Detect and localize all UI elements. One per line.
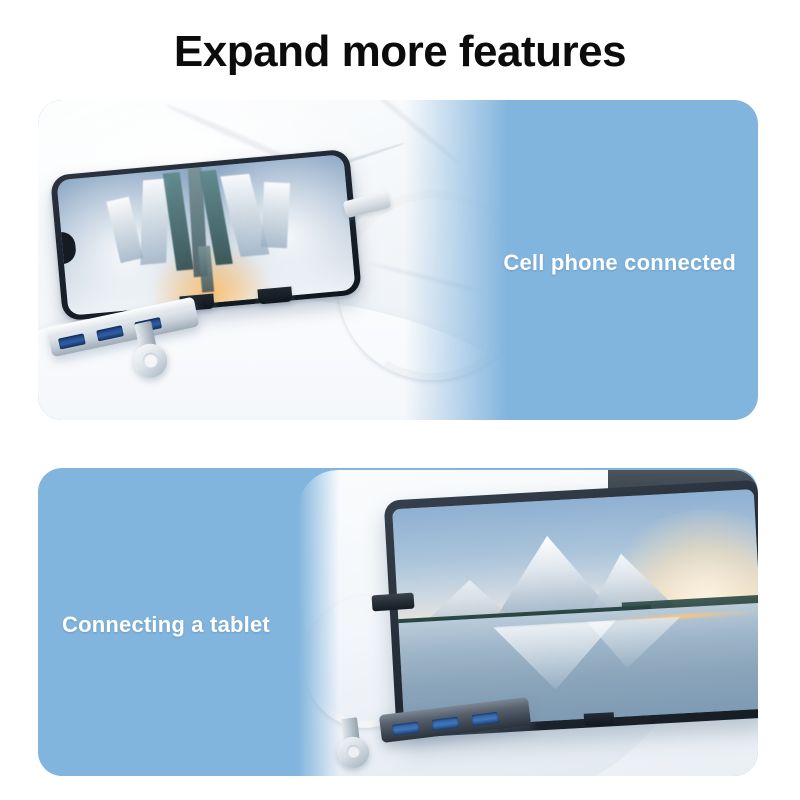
feature-panel-cell-phone: Cell phone connected [38, 100, 758, 420]
product-photo-tablet [298, 470, 758, 776]
feature-panel-tablet: Connecting a tablet [38, 468, 758, 776]
smartphone-screen [56, 154, 355, 316]
tablet-stand-foot [584, 712, 615, 727]
smartphone-wallpaper [56, 154, 355, 316]
product-photo-cell-phone [38, 100, 508, 420]
tablet-screen [392, 489, 758, 729]
phone-stand-foot [257, 287, 292, 305]
tablet-device [384, 480, 758, 739]
page-title: Expand more features [0, 26, 800, 78]
flash-drive-icon [333, 716, 371, 770]
usb-c-plug-icon [371, 593, 414, 612]
panel-label-tablet: Connecting a tablet [62, 612, 270, 638]
flash-drive-head [335, 735, 371, 770]
flash-drive-head [130, 341, 170, 381]
panel-label-cell-phone: Cell phone connected [503, 250, 736, 276]
flash-drive-hole [142, 351, 160, 369]
flash-drive-hole [346, 744, 360, 758]
